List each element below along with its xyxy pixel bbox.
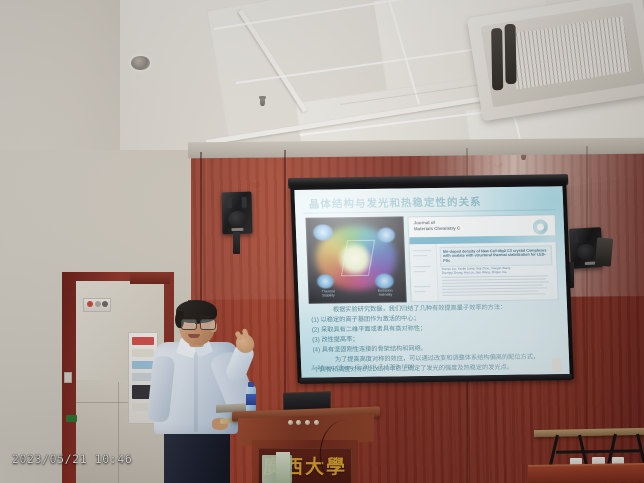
projection-screen: 晶体结构与发光和热稳定性的关系 Thermal Stability Emissi… — [288, 174, 576, 390]
podium-button-4[interactable] — [314, 420, 319, 425]
speaker-left-badge — [231, 228, 243, 231]
glasses-lens-right — [200, 319, 216, 330]
journal-name: Journal of Materials Chemistry C — [414, 220, 461, 232]
presenter-shirt-placket — [194, 352, 198, 432]
journal-accent-bar — [409, 235, 555, 244]
slide-citation: J. Mater. Chem. C, 2019, 7, 1792-1800 — [311, 363, 414, 371]
journal-sidebar — [410, 244, 439, 301]
glasses-bridge — [195, 323, 200, 324]
ac-vane-2 — [505, 24, 517, 84]
indicator-dot-dark — [102, 301, 108, 307]
speaker-right-cone — [577, 244, 596, 261]
glasses-lens-left — [181, 319, 197, 330]
figure-label-left: Thermal Stability — [315, 289, 341, 298]
indicator-dot-red — [87, 301, 93, 307]
speaker-left-port — [227, 197, 232, 208]
indicator-dot-grey — [95, 301, 101, 307]
speaker-right-port — [573, 232, 579, 242]
wall-bracket — [595, 237, 613, 266]
screen-surface: 晶体结构与发光和热稳定性的关系 Thermal Stability Emissi… — [294, 186, 569, 378]
speaker-left — [221, 192, 252, 235]
journal-article-title: Mn-doped density of New CaY-Mg2 C3 cryst… — [443, 248, 548, 264]
glasses-icon — [181, 319, 214, 328]
water-bottle-cap — [248, 382, 254, 387]
presenter-brow-right — [200, 316, 211, 318]
photo-timestamp: 2023/05/21 10:46 — [12, 452, 132, 466]
journal-sidebar-line-2 — [413, 255, 427, 257]
screen-pull-tab[interactable] — [552, 358, 562, 372]
floor-storage-box-2 — [276, 452, 290, 483]
figure-molecule-3 — [317, 274, 335, 288]
exit-sign-icon — [66, 415, 77, 422]
lecture-hall-photo: 晶体结构与发光和热稳定性的关系 Thermal Stability Emissi… — [0, 0, 644, 483]
wood-seam-2 — [284, 150, 286, 410]
light-switch[interactable] — [64, 372, 72, 383]
journal-abstract-line-7 — [443, 293, 546, 296]
wall-control-panel[interactable] — [83, 298, 111, 312]
door-header-trim — [130, 272, 170, 284]
journal-article-panel: Journal of Materials Chemistry C Mn-dope… — [407, 214, 558, 302]
presentation-slide: 晶体结构与发光和热稳定性的关系 Thermal Stability Emissi… — [294, 186, 569, 378]
journal-title-box: Mn-doped density of New CaY-Mg2 C3 cryst… — [440, 245, 553, 267]
podium-control-buttons[interactable] — [288, 420, 322, 425]
podium-button-1[interactable] — [288, 420, 293, 425]
speaker-left-cone — [228, 211, 246, 227]
floor-tile-line-2 — [118, 382, 119, 483]
journal-authors: Xiaoyu Liu, Yanjie Liang, Siqi Zhou, Xia… — [441, 265, 545, 275]
bench-seat — [528, 465, 644, 483]
slide-figure: Thermal Stability Emission Intensity — [305, 216, 406, 303]
figure-label-right: Emission Intensity — [371, 288, 399, 297]
downlight-icon-1 — [131, 56, 150, 70]
presenter-trousers — [164, 428, 230, 483]
journal-sidebar-line-6 — [414, 291, 425, 293]
journal-sidebar-line-1 — [413, 250, 431, 252]
sprinkler-icon-1 — [260, 98, 265, 106]
water-bottle-label — [246, 394, 256, 405]
journal-sidebar-line-5 — [414, 286, 430, 288]
journal-sidebar-line-4 — [414, 271, 426, 273]
journal-sidebar-line-3 — [413, 266, 430, 268]
podium-button-2[interactable] — [296, 420, 301, 425]
ac-vane-1 — [491, 28, 503, 90]
presenter-finger-2 — [242, 328, 250, 339]
figure-molecule-2 — [377, 228, 396, 243]
speaker-left-mount — [233, 232, 240, 254]
speaker-left-port-2 — [242, 197, 247, 208]
figure-molecule-4 — [375, 274, 395, 289]
podium-button-3[interactable] — [305, 420, 310, 425]
journal-logo-icon — [533, 219, 549, 234]
